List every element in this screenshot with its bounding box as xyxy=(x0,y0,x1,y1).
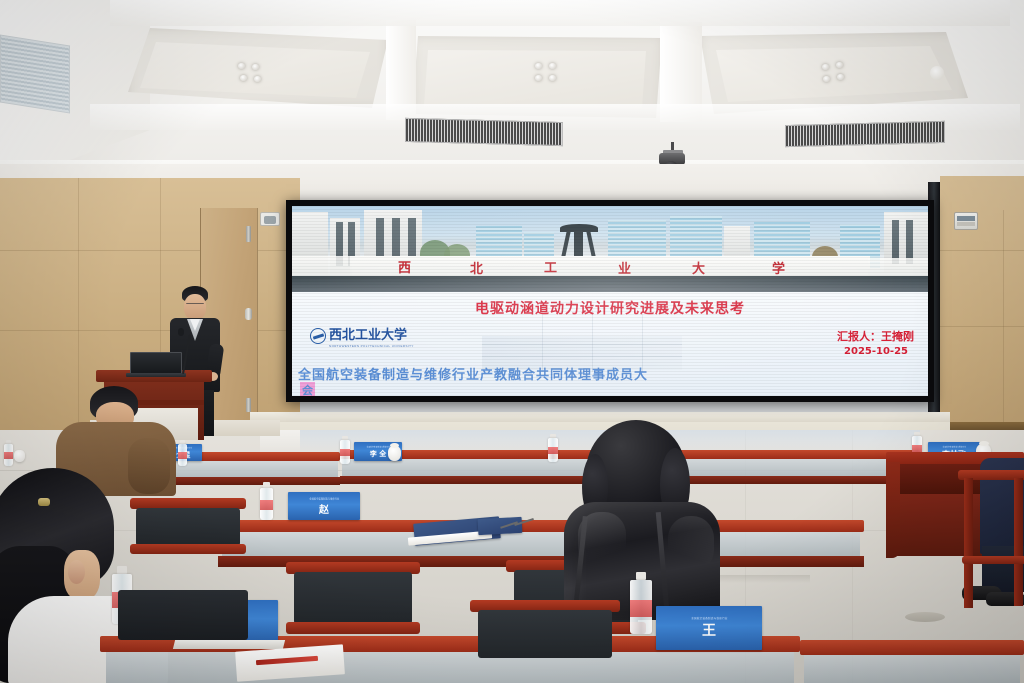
name-placard-6: 全国航空装备制造与维修行业 王 xyxy=(656,606,762,650)
npu-emblem-icon xyxy=(310,328,326,344)
wall-wood-right xyxy=(940,176,1024,434)
ceiling xyxy=(0,0,1024,186)
attendee-ear xyxy=(68,560,85,584)
led-video-wall[interactable]: 西 北 工 业 大 学 电驱动涵道动力设计研究进展及未来思考 西北工业大学 NO… xyxy=(292,206,928,396)
water-bottle-f2 xyxy=(630,572,652,634)
gate-char-5: 大 xyxy=(692,258,705,277)
gate-char-4: 业 xyxy=(618,258,631,277)
water-bottle-b2 xyxy=(178,440,187,466)
university-logo-text: 西北工业大学 xyxy=(329,328,407,343)
placard-org: 全国航空装备制造与维修行业 xyxy=(309,497,339,500)
ceiling-louver xyxy=(0,34,70,113)
chair-right xyxy=(958,470,1024,630)
gate-char-3: 工 xyxy=(544,257,557,276)
slide-title: 电驱动涵道动力设计研究进展及未来思考 xyxy=(292,298,928,318)
gate-char-1: 西 xyxy=(398,257,411,276)
ceiling-spotlight-cluster-1 xyxy=(238,63,268,83)
hair-clip xyxy=(38,498,50,506)
slide-date: 2025-10-25 xyxy=(728,346,908,357)
floor-vent xyxy=(905,612,945,622)
university-logo-subtext: NORTHWESTERN POLYTECHNICAL UNIVERSITY xyxy=(329,344,414,348)
water-bottle-b1 xyxy=(4,440,13,466)
table-foreground-right xyxy=(800,640,1024,683)
placard-org: 全国航空装备制造与维修行业 xyxy=(366,445,390,447)
ceiling-spotlight-cluster-2 xyxy=(535,63,565,83)
wall-control-panel[interactable] xyxy=(954,212,978,230)
conference-room-photo: 西 北 工 业 大 学 电驱动涵道动力设计研究进展及未来思考 西北工业大学 NO… xyxy=(0,0,1024,683)
name-placard-4: 全国航空装备制造与维修行业 赵 xyxy=(288,492,360,520)
slide-presenter: 汇报人：王掩刚 xyxy=(714,328,914,344)
door-hinge xyxy=(246,226,251,242)
water-bottle-b3 xyxy=(340,436,350,464)
presenter-head xyxy=(184,294,206,320)
placard-org: 全国航空装备制造与维修行业 xyxy=(942,445,966,447)
campus-gate-wall xyxy=(350,256,870,278)
hvac-vent-right xyxy=(785,121,945,147)
microphone-head xyxy=(178,328,184,336)
tea-cup-b1 xyxy=(14,450,25,462)
placard-name: 王 xyxy=(702,620,716,640)
slide-subtitle-line2: 会 xyxy=(300,382,315,397)
ceiling-light-round xyxy=(930,66,944,80)
ceiling-spotlight-cluster-3 xyxy=(822,62,852,82)
chair-foreground-2 xyxy=(470,600,620,670)
slide-subtitle-line1: 全国航空装备制造与维修行业产教融合共同体理事成员大 xyxy=(298,364,648,383)
eyeglasses xyxy=(500,520,534,530)
tea-cup-b2 xyxy=(388,446,401,461)
presenter-glasses xyxy=(186,303,204,306)
gate-char-2: 北 xyxy=(470,258,483,277)
hvac-vent-left xyxy=(405,118,563,146)
gate-char-6: 学 xyxy=(772,258,785,277)
laptop-screen[interactable] xyxy=(130,352,182,374)
chair-foreground-1 xyxy=(118,590,248,650)
slide-header-photo: 西 北 工 业 大 学 xyxy=(292,206,928,292)
slide-body: 电驱动涵道动力设计研究进展及未来思考 西北工业大学 NORTHWESTERN P… xyxy=(292,292,928,397)
placard-name: 李 全 xyxy=(370,449,386,459)
wall-sensor-left xyxy=(260,212,280,226)
door-handle[interactable] xyxy=(245,308,252,320)
placard-org: 全国航空装备制造与维修行业 xyxy=(691,616,727,619)
water-bottle-m1 xyxy=(260,482,273,520)
baseboard-right xyxy=(940,422,1024,430)
placard-name: 赵 xyxy=(319,501,329,516)
university-logo: 西北工业大学 NORTHWESTERN POLYTECHNICAL UNIVER… xyxy=(310,324,414,348)
